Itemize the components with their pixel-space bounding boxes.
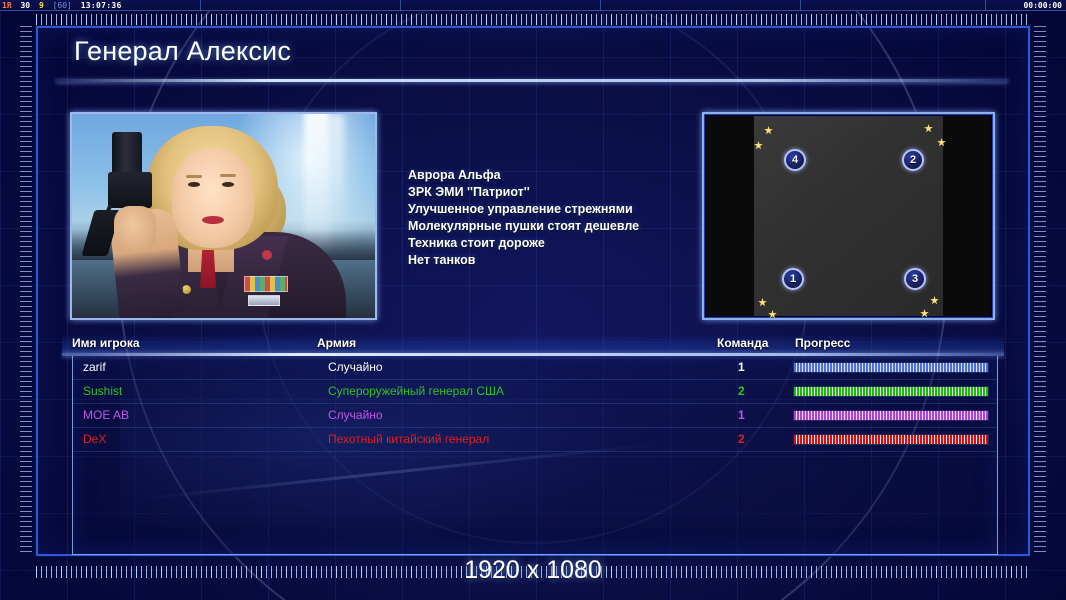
description-line-4: Техника стоит дороже [408,235,718,252]
table-row[interactable]: DeXПехотный китайский генерал2 [73,428,997,452]
column-header-army: Армия [317,336,356,350]
portrait-button-upper [182,285,191,294]
top-status-bar: 1R 30 9 [60] 13:07:36 00:00:00 [0,0,1066,11]
player-progress-track [793,362,989,373]
player-team: 1 [738,408,745,422]
map-start-position-2[interactable]: 2 [902,149,924,171]
minimap-frame: 4213 [702,112,995,320]
general-portrait-frame [70,112,377,320]
general-info-section: Аврора АльфаЗРК ЭМИ ''Патриот''Улучшенно… [70,112,995,322]
status-divider-5 [985,0,986,11]
status-clock: 13:07:36 [79,0,124,11]
portrait-shoulder-pin [262,250,272,260]
minimap-canvas: 4213 [706,116,991,316]
column-header-player: Имя игрока [72,336,140,350]
title-band: Генерал Алексис [38,28,1028,82]
table-row[interactable]: SushistСупероружейный генерал США2 [73,380,997,404]
title-underline [56,79,1008,82]
status-segment-3: 9 [37,0,46,11]
player-list-panel[interactable]: zarifСлучайно1SushistСупероружейный гене… [72,356,998,555]
status-segment-1: 1R [0,0,14,11]
player-army: Случайно [328,408,383,422]
status-right-clock: 00:00:00 [1023,0,1062,11]
player-army: Супероружейный генерал США [328,384,504,398]
portrait-eye-right [222,182,234,187]
description-line-2: Улучшенное управление стрежнями [408,201,718,218]
general-portrait-image [72,114,375,318]
player-progress-fill [794,435,988,444]
portrait-brow-left [186,175,202,178]
player-list-header: Имя игрока Армия Команда Прогресс [62,334,1004,356]
description-line-1: ЗРК ЭМИ ''Патриот'' [408,184,718,201]
portrait-medal-ribbons [244,276,288,292]
resolution-label: 1920 x 1080 [0,556,1066,585]
player-progress-track [793,410,989,421]
status-segment-2: 30 [18,0,32,11]
player-team: 2 [738,384,745,398]
player-progress-fill [794,363,988,372]
player-army: Пехотный китайский генерал [328,432,489,446]
ruler-ticks-top [36,14,1030,26]
map-start-position-1[interactable]: 1 [782,268,804,290]
status-divider-4 [800,0,801,11]
map-start-position-3[interactable]: 3 [904,268,926,290]
portrait-hand [114,206,156,252]
player-team: 1 [738,360,745,374]
description-line-3: Молекулярные пушки стоят дешевле [408,218,718,235]
page-title: Генерал Алексис [74,36,291,67]
column-header-progress: Прогресс [795,336,850,350]
column-header-team: Команда [717,336,768,350]
portrait-brow-right [220,174,236,177]
description-line-0: Аврора Альфа [408,167,718,184]
map-start-position-4[interactable]: 4 [784,149,806,171]
player-progress-track [793,386,989,397]
player-progress-fill [794,387,988,396]
player-name: DeX [83,432,106,446]
resolution-band: 1920 x 1080 [0,556,1066,600]
player-progress-track [793,434,989,445]
game-lobby-screen: 1R 30 9 [60] 13:07:36 00:00:00 Генерал А… [0,0,1066,600]
portrait-light-beam-secondary [330,114,344,234]
player-name: zarif [83,360,106,374]
portrait-eye-left [188,182,200,187]
status-segment-4: [60] [51,0,74,11]
description-line-5: Нет танков [408,252,718,269]
ruler-ticks-left [20,26,32,556]
player-progress-fill [794,411,988,420]
player-team: 2 [738,432,745,446]
portrait-medal-badge [248,295,280,306]
general-description: Аврора АльфаЗРК ЭМИ ''Патриот''Улучшенно… [408,167,718,269]
table-row[interactable]: MOE ABСлучайно1 [73,404,997,428]
table-row[interactable]: zarifСлучайно1 [73,356,997,380]
player-army: Случайно [328,360,383,374]
player-name: MOE AB [83,408,129,422]
status-divider-2 [400,0,401,11]
status-divider-3 [600,0,601,11]
portrait-lips [202,216,224,224]
player-name: Sushist [83,384,122,398]
portrait-face [172,148,254,248]
ruler-ticks-right [1034,26,1046,556]
status-divider-1 [200,0,201,11]
